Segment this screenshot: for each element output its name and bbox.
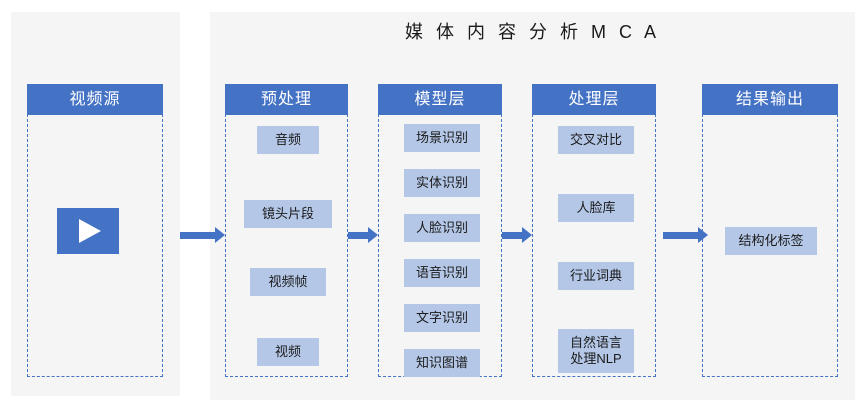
stage-processing-layer: 处理层 交叉对比 人脸库 行业词典 自然语言 处理NLP xyxy=(532,84,656,377)
chip-model-5[interactable]: 知识图谱 xyxy=(404,349,480,377)
page-title: 媒 体 内 容 分 析 M C A xyxy=(210,18,855,44)
chip-preprocessing-3[interactable]: 视频 xyxy=(257,338,319,366)
chip-preprocessing-1[interactable]: 镜头片段 xyxy=(244,200,332,228)
chip-preprocessing-0[interactable]: 音频 xyxy=(257,126,319,154)
arrow-head-icon xyxy=(368,227,378,243)
stage-body-preprocessing: 音频 镜头片段 视频帧 视频 xyxy=(226,116,347,376)
stage-header-processing-layer: 处理层 xyxy=(532,84,656,115)
play-button-icon[interactable] xyxy=(57,208,119,254)
stage-body-model-layer: 场景识别 实体识别 人脸识别 语音识别 文字识别 知识图谱 xyxy=(379,116,501,376)
chip-model-4[interactable]: 文字识别 xyxy=(404,304,480,332)
arrow-shaft xyxy=(180,232,215,239)
chip-preprocessing-2[interactable]: 视频帧 xyxy=(250,268,326,296)
stage-preprocessing: 预处理 音频 镜头片段 视频帧 视频 xyxy=(225,84,348,377)
stage-header-result-output: 结果输出 xyxy=(702,84,838,115)
chip-model-2[interactable]: 人脸识别 xyxy=(404,214,480,242)
stage-header-video-source: 视频源 xyxy=(27,84,163,115)
chip-processing-2[interactable]: 行业词典 xyxy=(558,262,634,290)
stage-result-output: 结果输出 结构化标签 xyxy=(702,84,838,377)
chip-processing-3[interactable]: 自然语言 处理NLP xyxy=(558,329,634,373)
stage-body-processing-layer: 交叉对比 人脸库 行业词典 自然语言 处理NLP xyxy=(533,116,655,376)
arrow-head-icon xyxy=(522,227,532,243)
arrow-model-to-processing xyxy=(502,227,532,243)
arrow-preprocessing-to-model xyxy=(348,227,378,243)
arrow-shaft xyxy=(348,232,368,239)
arrow-head-icon xyxy=(698,227,708,243)
chip-model-0[interactable]: 场景识别 xyxy=(404,124,480,152)
stage-model-layer: 模型层 场景识别 实体识别 人脸识别 语音识别 文字识别 知识图谱 xyxy=(378,84,502,377)
stage-header-model-layer: 模型层 xyxy=(378,84,502,115)
stage-body-result-output: 结构化标签 xyxy=(703,116,837,376)
chip-output-0[interactable]: 结构化标签 xyxy=(725,227,817,255)
arrow-source-to-preprocessing xyxy=(180,227,225,243)
chip-model-3[interactable]: 语音识别 xyxy=(404,259,480,287)
arrow-shaft xyxy=(663,232,698,239)
arrow-shaft xyxy=(502,232,522,239)
chip-processing-1[interactable]: 人脸库 xyxy=(558,194,634,222)
arrow-head-icon xyxy=(215,227,225,243)
chip-processing-0[interactable]: 交叉对比 xyxy=(558,126,634,154)
arrow-processing-to-output xyxy=(663,227,708,243)
stage-header-preprocessing: 预处理 xyxy=(225,84,348,115)
mca-flow-diagram: 媒 体 内 容 分 析 M C A 视频源 预处理 音频 镜头片段 视频帧 视频… xyxy=(0,0,859,411)
play-triangle-icon xyxy=(79,219,101,243)
chip-model-1[interactable]: 实体识别 xyxy=(404,169,480,197)
